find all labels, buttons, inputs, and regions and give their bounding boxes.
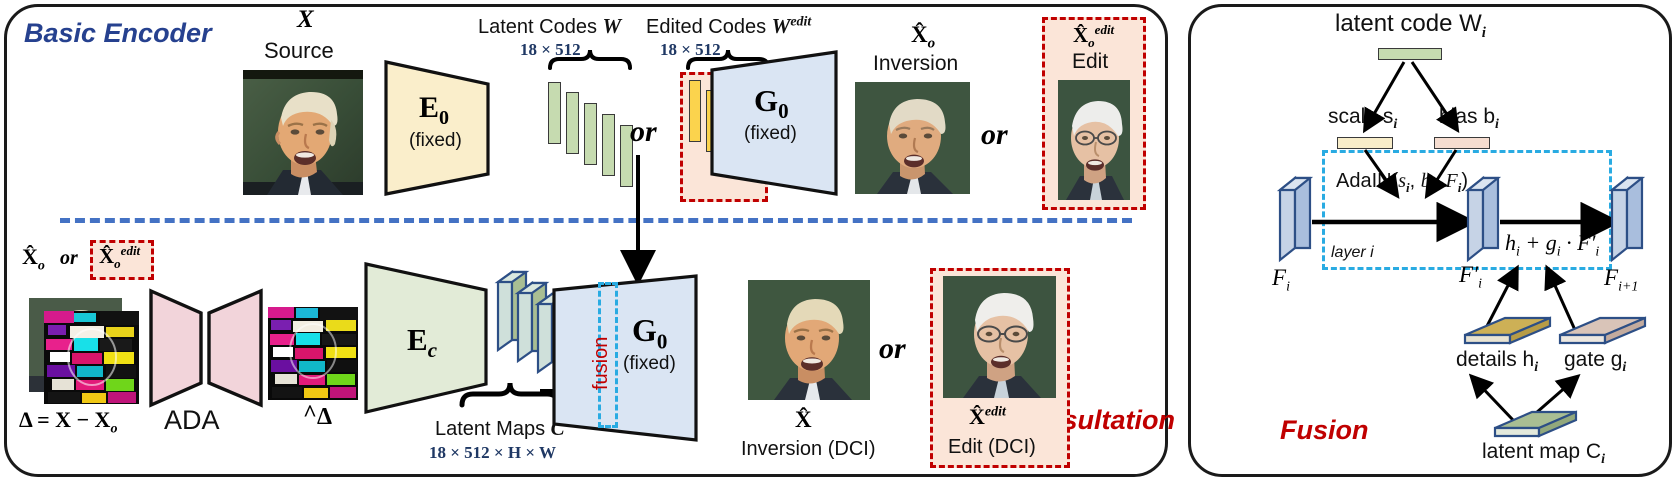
inversion-dci-symbol: X̂ — [795, 407, 812, 433]
inversion-top-photo — [855, 82, 970, 194]
section-divider — [60, 218, 1132, 223]
encoder-ec-label: Ec — [407, 322, 437, 363]
inversion-top-symbol: X̂o — [911, 22, 935, 53]
latent-code-bar — [548, 82, 561, 144]
source-photo — [243, 70, 363, 195]
ada-shape — [147, 287, 267, 409]
edit-top-symbol: X̂oedit — [1073, 22, 1114, 51]
layer-label: layer i — [1331, 244, 1374, 262]
edit-dci-symbol: X̂edit — [969, 404, 1006, 430]
latent-code-bar — [566, 92, 579, 154]
bias-bar — [1434, 137, 1490, 149]
latent-maps-dims: 18 × 512 × H × W — [429, 443, 556, 463]
edit-dci-photo — [943, 276, 1056, 398]
latent-code-w-bar — [1378, 48, 1442, 60]
residual-delta-photo — [44, 311, 139, 404]
residual-header-left: X̂o — [22, 244, 45, 274]
latent-codes-dims: 18 × 512 — [520, 40, 581, 60]
source-caption: Source — [264, 38, 334, 64]
latent-code-bar — [584, 103, 597, 165]
generator-g0-top-label: G0 — [754, 83, 789, 124]
fusion-formula-label: hi + gi · F′i — [1505, 230, 1599, 260]
adain-label: AdaIN(si, bi, Fi) — [1336, 170, 1468, 196]
encoder-e0-note: (fixed) — [409, 130, 462, 152]
latent-codes-title: Latent Codes W — [478, 14, 621, 39]
inversion-top-caption: Inversion — [873, 52, 958, 76]
figure-canvas: Basic Encoder Consultation X Source — [0, 0, 1676, 481]
residual-header-or: or — [60, 247, 78, 270]
latent-map-label: latent map Ci — [1482, 440, 1605, 468]
gate-label: gate gi — [1564, 348, 1626, 376]
section-title-basic-encoder: Basic Encoder — [24, 18, 212, 49]
inversion-dci-photo — [748, 280, 870, 400]
edit-top-photo — [1058, 80, 1130, 200]
generator-g0-bottom-note: (fixed) — [623, 353, 676, 375]
ada-label: ADA — [164, 405, 220, 436]
details-label: details hi — [1456, 348, 1538, 376]
edited-codes-title: Edited Codes Wedit — [646, 14, 811, 39]
bias-label: bias bi — [1439, 105, 1499, 133]
edit-top-caption: Edit — [1072, 50, 1108, 74]
delta-hat-photo — [268, 307, 358, 400]
source-symbol: X — [297, 6, 314, 34]
residual-caption: Δ = X − Xo — [19, 407, 117, 437]
fi-prime-label: F′i — [1459, 262, 1482, 293]
latent-code-bar — [602, 114, 615, 176]
or-label-top: or — [630, 115, 657, 149]
or-label-top-2: or — [981, 118, 1008, 152]
latent-code-label: latent code Wi — [1335, 10, 1486, 42]
generator-g0-top-note: (fixed) — [744, 123, 797, 145]
generator-g0-bottom-label: G0 — [632, 312, 667, 354]
fusion-label: fusion — [590, 337, 613, 390]
edited-code-bar — [689, 80, 701, 142]
fi-next-label: Fi+1 — [1604, 265, 1638, 296]
inversion-dci-caption: Inversion (DCI) — [741, 438, 875, 461]
residual-header-right: X̂oedit — [99, 243, 140, 272]
edit-dci-caption: Edit (DCI) — [948, 436, 1036, 459]
or-label-bottom: or — [879, 332, 906, 366]
encoder-e0-label: E0 — [419, 91, 449, 130]
fi-label: Fi — [1272, 265, 1290, 296]
scale-bar — [1337, 137, 1393, 149]
delta-hat-label: ^Δ — [303, 404, 332, 431]
section-title-fusion: Fusion — [1280, 415, 1369, 446]
scale-label: scale si — [1328, 105, 1397, 133]
latent-maps-title: Latent Maps C — [435, 416, 565, 441]
